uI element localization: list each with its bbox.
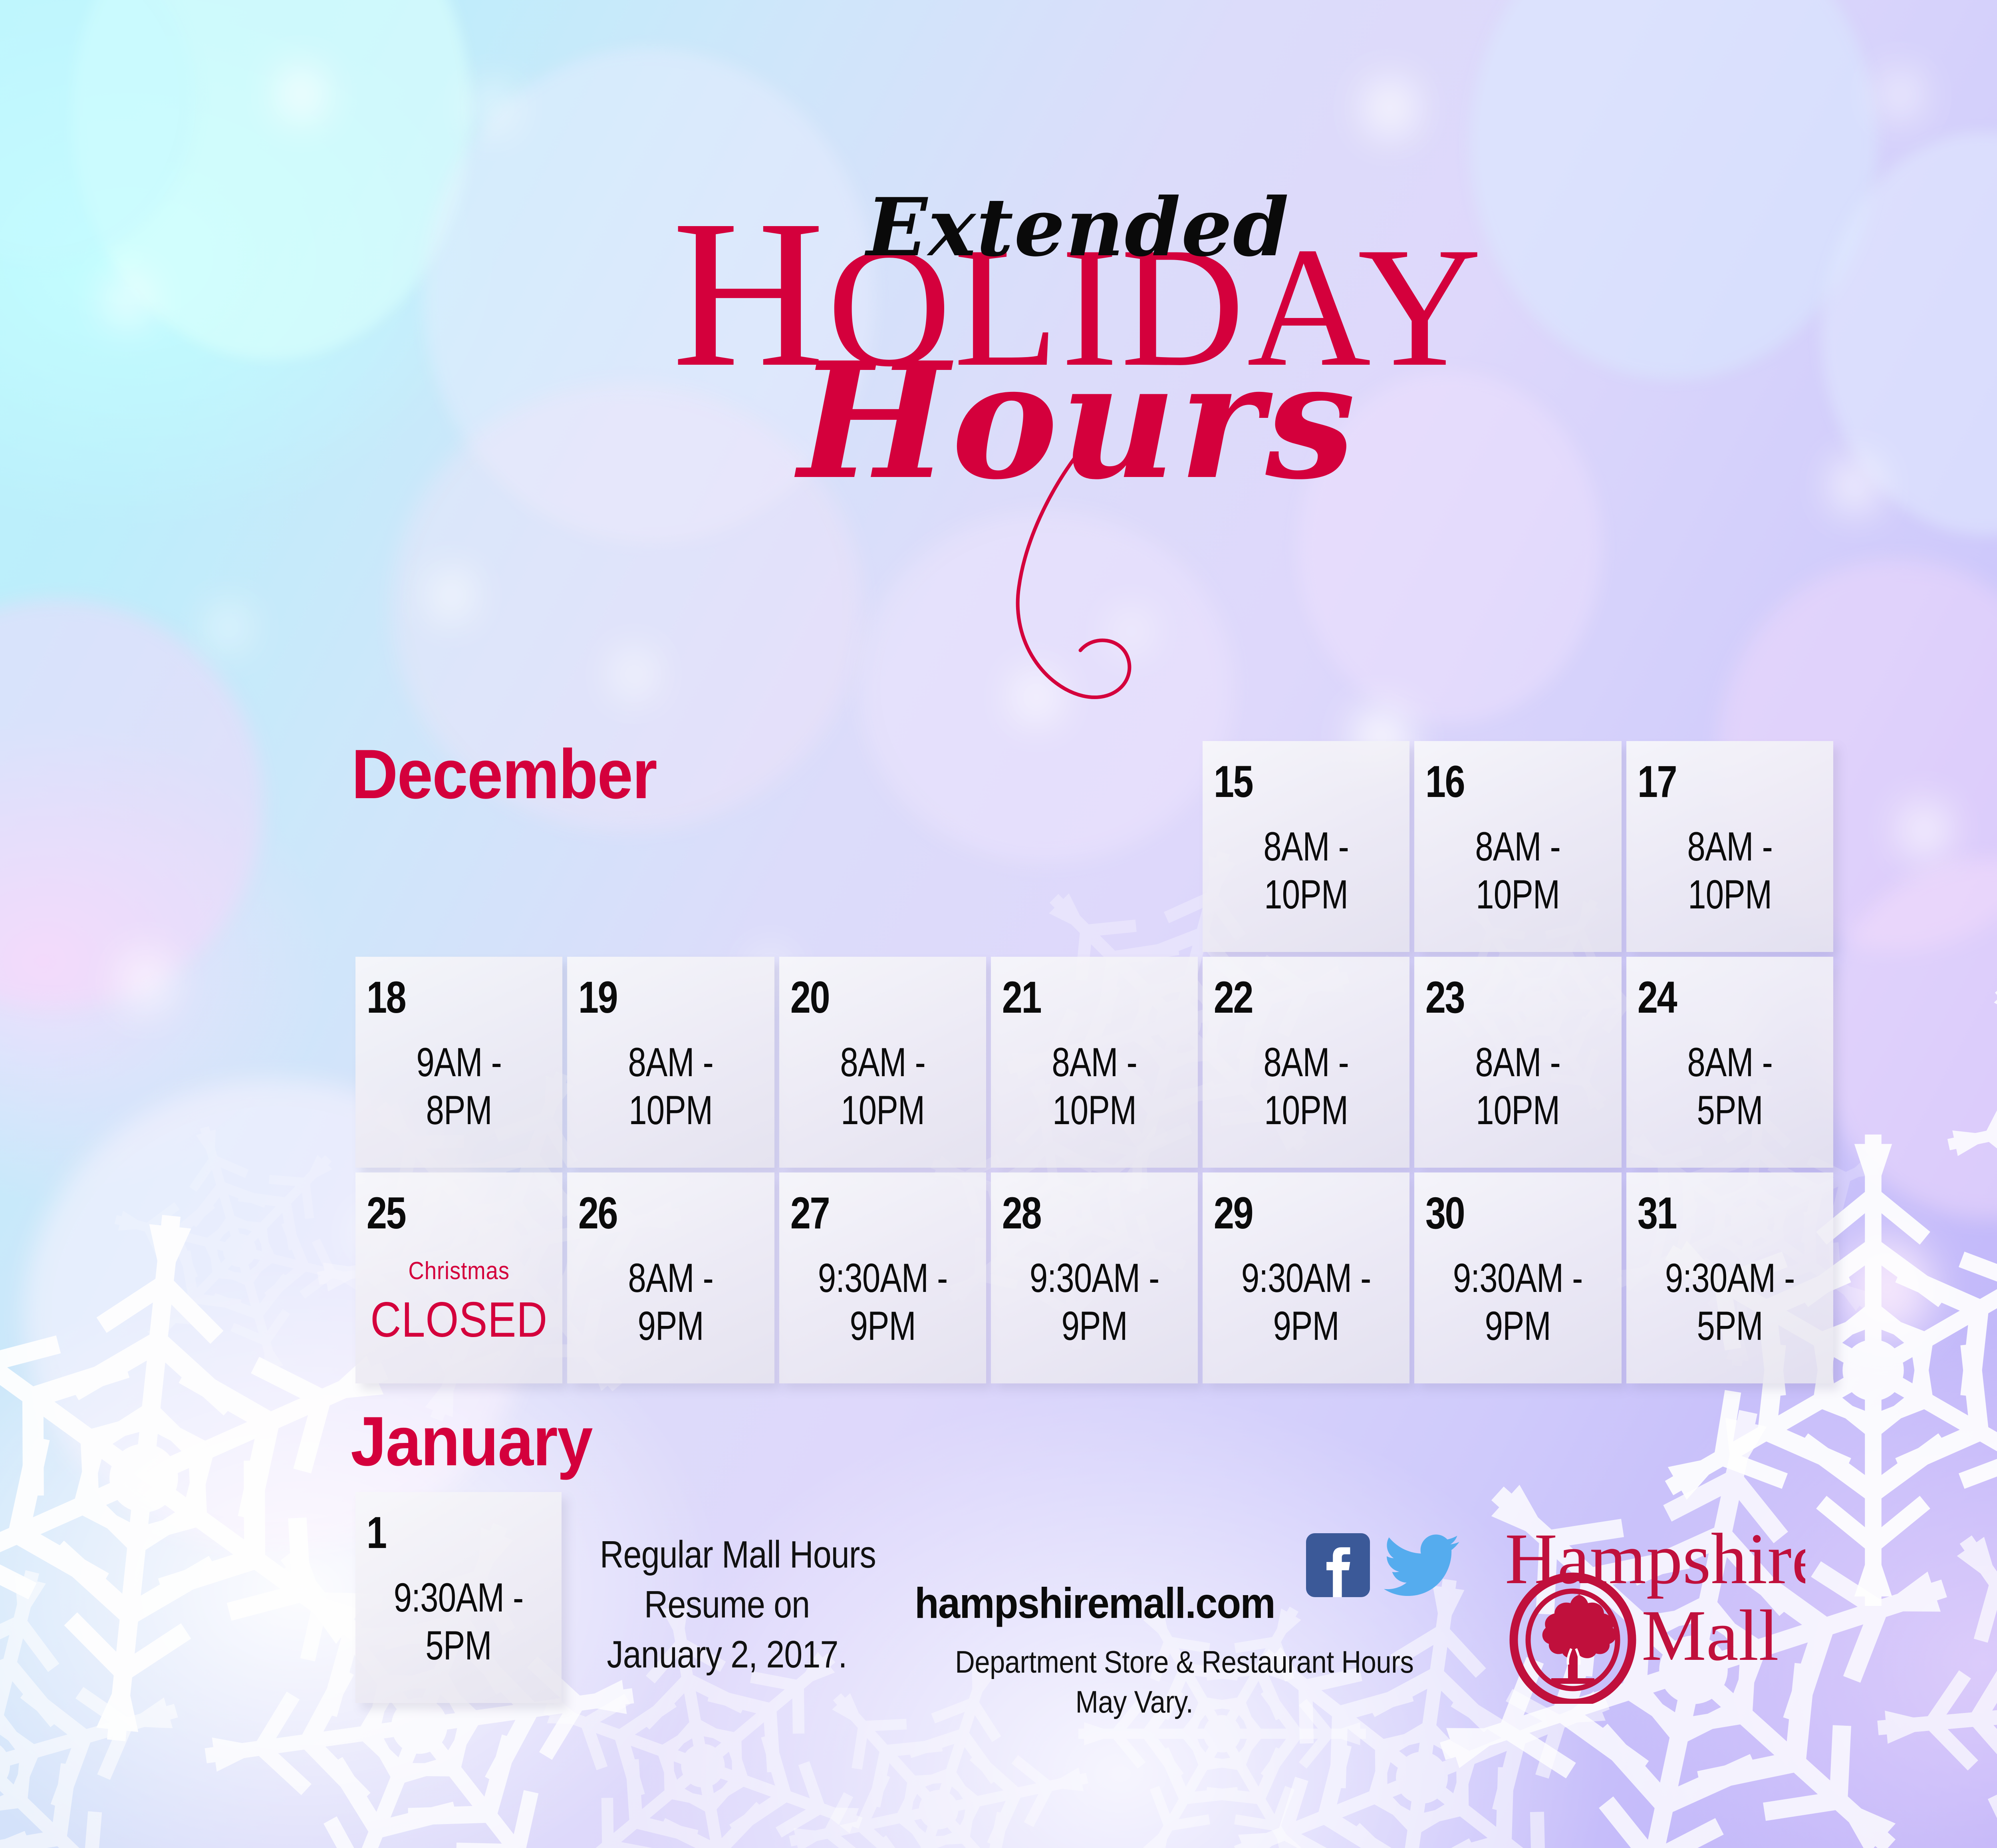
calendar-cell[interactable]: 198AM -10PM xyxy=(567,957,774,1168)
hours-disclaimer: Department Store & Restaurant HoursMay V… xyxy=(955,1642,1314,1722)
calendar-cell[interactable]: 289:30AM -9PM xyxy=(991,1172,1198,1383)
calendar-day-hours: 8AM -10PM xyxy=(1435,1038,1601,1135)
hours-line: 8AM - xyxy=(1650,823,1810,870)
hours-line: 5PM xyxy=(379,1621,538,1669)
logo-artwork: Hampshire Mall xyxy=(1486,1516,1805,1704)
january-calendar-grid: 19:30AM -5PM xyxy=(355,1492,562,1703)
month-heading-january: January xyxy=(351,1401,592,1482)
hours-line: 9PM xyxy=(1438,1302,1598,1350)
calendar-day-number: 26 xyxy=(567,1191,737,1236)
disclaimer-line: Department Store & Restaurant Hours xyxy=(955,1642,1314,1682)
calendar-day-hours: 9:30AM -5PM xyxy=(1647,1254,1813,1350)
title-hours: Hours xyxy=(0,356,1997,487)
calendar-day-number: 24 xyxy=(1626,975,1796,1020)
calendar-day-number: 27 xyxy=(779,1191,949,1236)
calendar-cell[interactable]: 19:30AM -5PM xyxy=(355,1492,562,1703)
resume-hours-note: Regular Mall HoursResume onJanuary 2, 20… xyxy=(600,1530,854,1679)
december-calendar-grid: 158AM -10PM168AM -10PM178AM -10PM189AM -… xyxy=(355,741,1833,1383)
calendar-day-hours: 9AM -8PM xyxy=(376,1038,542,1135)
calendar-day-number: 29 xyxy=(1203,1191,1372,1236)
hours-line: 9:30AM - xyxy=(802,1254,963,1302)
calendar-cell[interactable]: 238AM -10PM xyxy=(1414,957,1621,1168)
hours-line: 10PM xyxy=(1438,1086,1598,1134)
calendar-day-number: 18 xyxy=(355,975,525,1020)
calendar-cell[interactable]: 319:30AM -5PM xyxy=(1626,1172,1833,1383)
hours-line: 10PM xyxy=(1650,870,1810,918)
calendar-day-number: 19 xyxy=(567,975,737,1020)
calendar-day-number: 30 xyxy=(1414,1191,1584,1236)
hours-line: 9PM xyxy=(1226,1302,1386,1350)
calendar-day-number: 17 xyxy=(1626,759,1796,804)
calendar-day-number: 22 xyxy=(1203,975,1372,1020)
calendar-day-number: 20 xyxy=(779,975,949,1020)
calendar-cell[interactable]: 158AM -10PM xyxy=(1203,741,1409,952)
calendar-day-hours: 9:30AM -9PM xyxy=(1435,1254,1601,1350)
calendar-cell[interactable]: 248AM -5PM xyxy=(1626,957,1833,1168)
hours-line: 8AM - xyxy=(1438,1038,1598,1086)
hours-line: 8AM - xyxy=(802,1038,963,1086)
hours-line: 8PM xyxy=(379,1086,539,1134)
calendar-cell-closed[interactable]: 25ChristmasCLOSED xyxy=(355,1172,562,1383)
title-extended: Extended xyxy=(866,188,1290,268)
calendar-cell[interactable]: 218AM -10PM xyxy=(991,957,1198,1168)
hours-line: 10PM xyxy=(1226,870,1386,918)
calendar-cell[interactable]: 279:30AM -9PM xyxy=(779,1172,986,1383)
calendar-day-number: 15 xyxy=(1203,759,1372,804)
hours-line: 9PM xyxy=(802,1302,963,1350)
calendar-day-hours: 8AM -5PM xyxy=(1647,1038,1813,1135)
calendar-day-number: 31 xyxy=(1626,1191,1796,1236)
hours-line: 9:30AM - xyxy=(1226,1254,1386,1302)
hours-line: 8AM - xyxy=(1438,823,1598,870)
facebook-icon[interactable] xyxy=(1306,1533,1370,1597)
hours-line: 10PM xyxy=(1226,1086,1386,1134)
logo-word-hampshire: Hampshire xyxy=(1505,1519,1805,1599)
calendar-day-number: 1 xyxy=(355,1510,524,1555)
calendar-cell[interactable]: 309:30AM -9PM xyxy=(1414,1172,1621,1383)
title-block: Extended HOLIDAY Hours xyxy=(0,120,1997,487)
calendar-day-hours: 8AM -10PM xyxy=(1223,1038,1389,1135)
calendar-day-number: 28 xyxy=(991,1191,1161,1236)
hours-line: 10PM xyxy=(591,1086,751,1134)
calendar-day-hours: 9:30AM -9PM xyxy=(1012,1254,1177,1350)
resume-note-line: Regular Mall Hours xyxy=(600,1530,854,1580)
hours-line: 9PM xyxy=(1014,1302,1175,1350)
holiday-name-label: Christmas xyxy=(368,1259,550,1284)
calendar-cell[interactable]: 208AM -10PM xyxy=(779,957,986,1168)
calendar-day-number: 16 xyxy=(1414,759,1584,804)
resume-note-line: January 2, 2017. xyxy=(600,1630,854,1680)
hours-line: 10PM xyxy=(802,1086,963,1134)
hampshire-mall-logo: Hampshire Mall xyxy=(1486,1516,1805,1704)
hours-line: 8AM - xyxy=(1650,1038,1810,1086)
hours-line: 5PM xyxy=(1650,1302,1810,1350)
calendar-day-number: 23 xyxy=(1414,975,1584,1020)
twitter-icon[interactable] xyxy=(1384,1533,1461,1597)
disclaimer-line: May Vary. xyxy=(955,1682,1314,1722)
calendar-cell[interactable]: 268AM -9PM xyxy=(567,1172,774,1383)
calendar-cell[interactable]: 299:30AM -9PM xyxy=(1203,1172,1409,1383)
hours-line: 9AM - xyxy=(379,1038,539,1086)
logo-word-mall: Mall xyxy=(1642,1596,1779,1676)
calendar-day-hours: 8AM -10PM xyxy=(1012,1038,1177,1135)
calendar-cell[interactable]: 168AM -10PM xyxy=(1414,741,1621,952)
hours-line: 9:30AM - xyxy=(379,1574,538,1621)
hours-line: 9:30AM - xyxy=(1438,1254,1598,1302)
calendar-day-hours: 9:30AM -5PM xyxy=(376,1574,541,1670)
calendar-cell[interactable]: 228AM -10PM xyxy=(1203,957,1409,1168)
resume-note-line: Resume on xyxy=(600,1580,854,1630)
calendar-day-number: 21 xyxy=(991,975,1161,1020)
facebook-glyph xyxy=(1306,1533,1370,1597)
hours-line: 8AM - xyxy=(591,1254,751,1302)
calendar-day-hours: 9:30AM -9PM xyxy=(1223,1254,1389,1350)
hours-line: 9:30AM - xyxy=(1014,1254,1175,1302)
hours-line: 8AM - xyxy=(591,1038,751,1086)
calendar-day-hours: 9:30AM -9PM xyxy=(800,1254,965,1350)
calendar-day-hours: 8AM -10PM xyxy=(800,1038,965,1135)
calendar-cell[interactable]: 189AM -8PM xyxy=(355,957,562,1168)
hours-line: 8AM - xyxy=(1226,823,1386,870)
hours-line: 10PM xyxy=(1438,870,1598,918)
hours-line: 10PM xyxy=(1014,1086,1175,1134)
calendar-day-hours: 8AM -10PM xyxy=(1223,823,1389,919)
calendar-day-hours: 8AM -9PM xyxy=(588,1254,754,1350)
website-block: hampshiremall.com Department Store & Res… xyxy=(915,1578,1338,1722)
hours-line: 9:30AM - xyxy=(1650,1254,1810,1302)
closed-label: CLOSED xyxy=(370,1294,548,1346)
hours-line: 8AM - xyxy=(1226,1038,1386,1086)
calendar-day-hours: 8AM -10PM xyxy=(588,1038,754,1135)
hours-line: 9PM xyxy=(591,1302,751,1350)
hours-line: 8AM - xyxy=(1014,1038,1175,1086)
calendar-day-number: 25 xyxy=(355,1191,525,1236)
calendar-day-hours: 8AM -10PM xyxy=(1435,823,1601,919)
hours-line: 5PM xyxy=(1650,1086,1810,1134)
calendar-day-hours: 8AM -10PM xyxy=(1647,823,1813,919)
calendar-cell[interactable]: 178AM -10PM xyxy=(1626,741,1833,952)
social-icons xyxy=(1306,1533,1461,1597)
website-url[interactable]: hampshiremall.com xyxy=(915,1578,1304,1628)
